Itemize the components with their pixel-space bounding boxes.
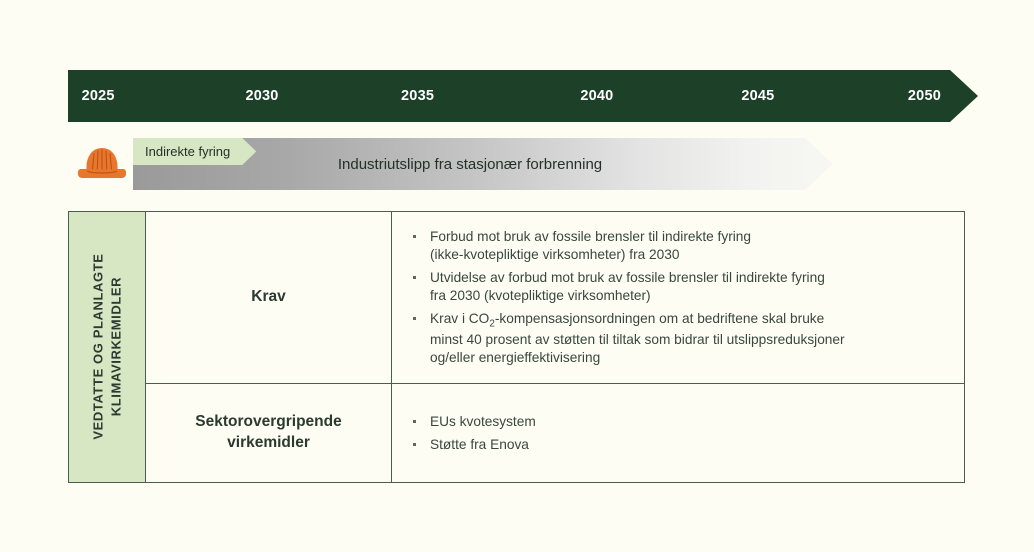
bullet-list: Forbud mot bruk av fossile brensler til …: [410, 228, 948, 367]
side-label-line-2: KLIMAVIRKEMIDLER: [108, 277, 123, 416]
row-title-sektorovergripende: Sektorovergripendevirkemidler: [146, 384, 392, 482]
infographic-page: 202520302035204020452050 Industriutslipp…: [0, 0, 1034, 552]
row-title-krav: Krav: [146, 212, 392, 383]
table-rows: Krav Forbud mot bruk av fossile brensler…: [146, 212, 964, 482]
sector-band-row: Industriutslipp fra stasjonær forbrennin…: [68, 136, 978, 192]
row-body-krav: Forbud mot bruk av fossile brensler til …: [392, 212, 964, 383]
bullet-list: EUs kvotesystemStøtte fra Enova: [410, 413, 948, 454]
table-row: Sektorovergripendevirkemidler EUs kvotes…: [146, 384, 964, 482]
list-item: Støtte fra Enova: [410, 436, 948, 454]
table-row: Krav Forbud mot bruk av fossile brensler…: [146, 212, 964, 384]
row-body-sektorovergripende: EUs kvotesystemStøtte fra Enova: [392, 384, 964, 482]
timeline-year-2025: 2025: [82, 88, 115, 104]
timeline-year-labels: 202520302035204020452050: [68, 70, 978, 122]
side-label-line-1: VEDTATTE OG PLANLAGTE: [90, 254, 105, 440]
list-item: Utvidelse av forbud mot bruk av fossile …: [410, 269, 948, 305]
table-side-label-text: VEDTATTE OG PLANLAGTE KLIMAVIRKEMIDLER: [89, 254, 124, 440]
timeline-year-2030: 2030: [245, 88, 278, 104]
timeline-year-2045: 2045: [741, 88, 774, 104]
hard-hat-icon: [73, 141, 131, 187]
table-side-label: VEDTATTE OG PLANLAGTE KLIMAVIRKEMIDLER: [69, 212, 146, 482]
band-sub-tag: Indirekte fyring: [133, 138, 256, 165]
timeline-year-2040: 2040: [580, 88, 613, 104]
list-item: Krav i CO2-kompensasjonsordningen om at …: [410, 310, 948, 367]
list-item: Forbud mot bruk av fossile brensler til …: [410, 228, 948, 264]
timeline-bar: 202520302035204020452050: [68, 70, 978, 122]
measures-table: VEDTATTE OG PLANLAGTE KLIMAVIRKEMIDLER K…: [68, 211, 965, 483]
timeline-year-2035: 2035: [401, 88, 434, 104]
timeline-year-2050: 2050: [908, 88, 941, 104]
list-item: EUs kvotesystem: [410, 413, 948, 431]
